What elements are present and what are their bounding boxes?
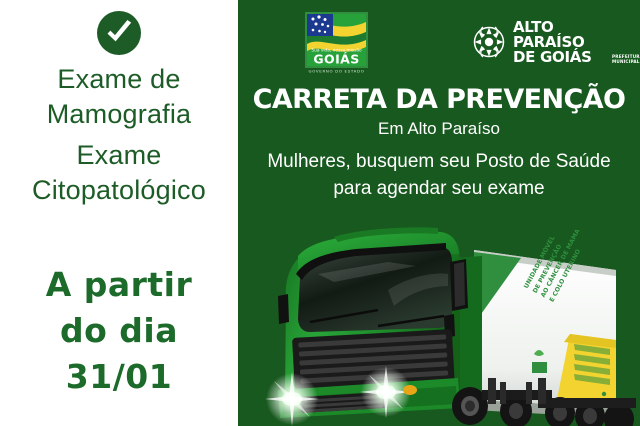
callout-line: Mulheres, busquem seu Posto de Saúde xyxy=(238,148,640,175)
left-info-panel: Exame de Mamografia Exame Citopatológico… xyxy=(0,0,238,426)
poster-subheadline: Em Alto Paraíso xyxy=(238,118,640,139)
trailer-wheels xyxy=(538,397,636,426)
check-circle-icon xyxy=(96,10,142,56)
alto-paraiso-de-goias-city-hall-logo: ALTO PARAÍSO DE GOIÁS PREFEITURA MUNICIP… xyxy=(470,22,610,62)
alto-line-2: DE GOIÁS xyxy=(513,50,610,65)
date-line: A partir xyxy=(0,262,238,308)
alto-sub-2: MUNICIPAL xyxy=(612,59,640,64)
flower-sun-emblem-icon xyxy=(470,23,508,61)
poster-headline: CARRETA DA PREVENÇÃO xyxy=(238,85,640,115)
poster-callout: Mulheres, busquem seu Posto de Saúde par… xyxy=(238,148,640,202)
date-line: do dia xyxy=(0,308,238,354)
alto-subtitle: PREFEITURA MUNICIPAL xyxy=(612,54,640,64)
exam-list: Exame de Mamografia Exame Citopatológico xyxy=(0,62,238,208)
right-green-panel: Sua vida, nossa missão GOIÁS GOVERNO DO … xyxy=(238,0,640,426)
logo-row: Sua vida, nossa missão GOIÁS GOVERNO DO … xyxy=(238,0,640,76)
alto-line-1: ALTO PARAÍSO xyxy=(513,20,610,50)
date-line: 31/01 xyxy=(0,354,238,400)
exam-line: Exame xyxy=(0,138,238,173)
alto-sub-1: PREFEITURA xyxy=(612,54,640,59)
callout-line: para agendar seu exame xyxy=(238,175,640,202)
exam-item: Exame de Mamografia xyxy=(0,62,238,132)
exam-line: Citopatológico xyxy=(0,173,238,208)
exam-line: Exame de xyxy=(0,62,238,97)
exam-item: Exame Citopatológico xyxy=(0,138,238,208)
start-date-callout: A partir do dia 31/01 xyxy=(0,262,238,400)
mobile-prevention-unit-truck: UNIDADE MÓVEL DE PREVENÇÃO AO CÂNCER DE … xyxy=(238,212,640,426)
goias-footer: GOVERNO DO ESTADO xyxy=(309,69,365,74)
goias-state-government-logo: Sua vida, nossa missão GOIÁS GOVERNO DO … xyxy=(305,12,368,74)
alto-paraiso-wordmark: ALTO PARAÍSO DE GOIÁS PREFEITURA MUNICIP… xyxy=(513,20,610,65)
exam-line: Mamografia xyxy=(0,97,238,132)
poster-canvas: Exame de Mamografia Exame Citopatológico… xyxy=(0,0,640,426)
goias-wordmark: GOIÁS xyxy=(313,52,359,67)
